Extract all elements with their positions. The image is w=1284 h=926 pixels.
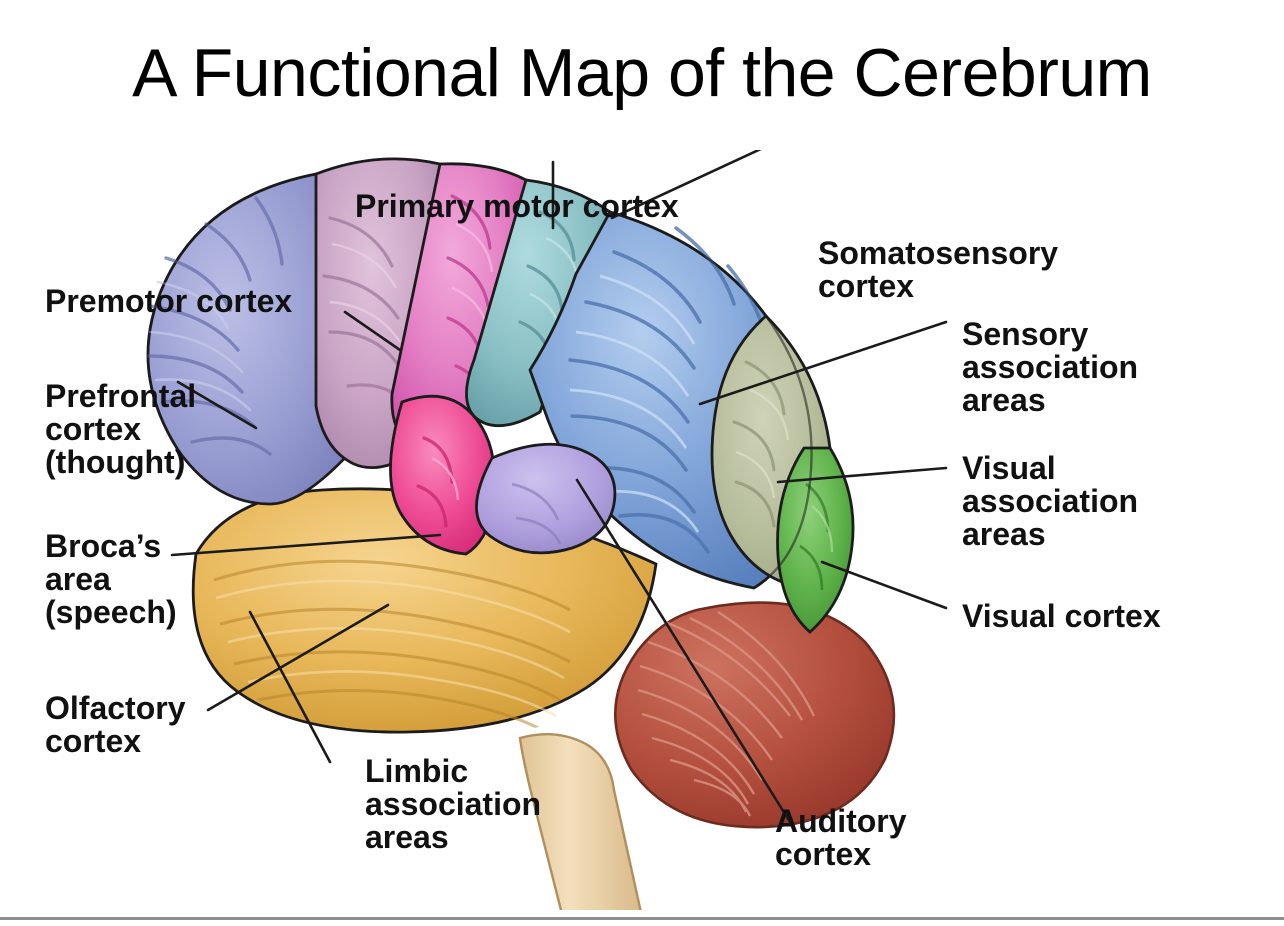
label-auditory-cortex: Auditory cortex	[775, 805, 907, 871]
label-visual-cortex: Visual cortex	[962, 600, 1161, 633]
label-brocas-area: Broca’s area (speech)	[45, 530, 177, 629]
label-sensory-association-areas: Sensory association areas	[962, 318, 1138, 417]
label-primary-motor-cortex: Primary motor cortex	[355, 190, 679, 223]
page-title: A Functional Map of the Cerebrum	[0, 34, 1284, 112]
label-somatosensory-cortex: Somatosensory cortex	[818, 237, 1058, 303]
region-auditory-cortex	[476, 444, 614, 553]
region-cerebellum	[615, 603, 894, 828]
label-limbic-association-areas: Limbic association areas	[365, 755, 541, 854]
label-olfactory-cortex: Olfactory cortex	[45, 692, 185, 758]
label-premotor-cortex: Premotor cortex	[45, 285, 292, 318]
bottom-divider	[0, 917, 1284, 920]
label-prefrontal-cortex: Prefrontal cortex (thought)	[45, 380, 196, 479]
label-visual-association-areas: Visual association areas	[962, 452, 1138, 551]
slide-canvas: A Functional Map of the Cerebrum	[0, 0, 1284, 926]
